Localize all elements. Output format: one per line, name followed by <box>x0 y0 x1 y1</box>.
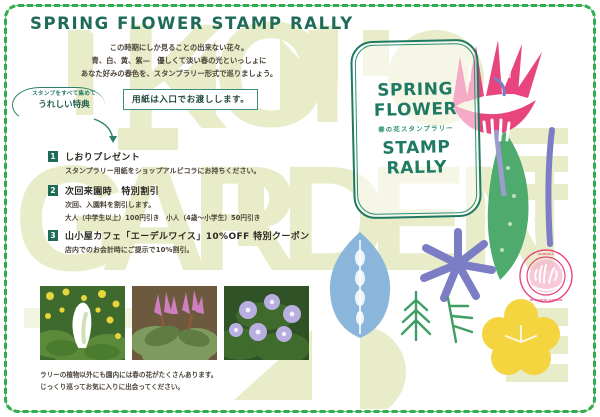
benefit-number-badge: 2 <box>48 185 58 196</box>
benefit-item: 3山小屋カフェ「エーデルワイス」10%OFF 特別クーポン店内でのお会計時にご提… <box>48 229 348 256</box>
speech-bubble-content: スタンプをすべて集めて うれしい特典 <box>16 89 112 110</box>
photo-purple-flower <box>224 286 309 360</box>
benefit-number-badge: 3 <box>48 230 58 241</box>
green-fir-sprig-left-illustration <box>396 288 436 344</box>
lead-paragraph: この時期にしか見ることの出来ない花々。 青、白、黄、紫— 優しくて淡い春の光とい… <box>30 42 328 80</box>
content-column: SPRING FLOWER STAMP RALLY この時期にしか見ることの出来… <box>30 14 350 137</box>
benefit-description: 次回、入園料を割引します。 <box>65 200 348 211</box>
notice-row: スタンプをすべて集めて うれしい特典 用紙は入口でお渡しします。 <box>30 91 350 137</box>
benefit-item: 1しおりプレゼントスタンプラリー用紙をショップアルピコラにお持ちください。 <box>48 150 348 177</box>
benefit-title: 山小屋カフェ「エーデルワイス」10%OFF 特別クーポン <box>65 229 310 242</box>
green-fir-sprig-right-illustration <box>436 294 476 346</box>
photo-white-flower <box>40 286 125 360</box>
lead-line-3: あなた好みの春色を、スタンプラリー形式で巡りましょう。 <box>30 68 328 81</box>
benefits-list: 1しおりプレゼントスタンプラリー用紙をショップアルピコラにお持ちください。2次回… <box>48 150 348 263</box>
stamp-rally-badge: SPRING FLOWER 春の花スタンプラリー STAMP RALLY <box>352 40 480 218</box>
benefit-description: 店内でのお会計時にご提示で10%割引。 <box>65 245 348 256</box>
benefit-number-badge: 1 <box>48 151 58 162</box>
photo-caption: ラリーの植物以外にも園内には春の花がたくさんあります。 じっくり巡ってお気に入り… <box>40 370 217 393</box>
benefit-title: 次回来園時 特別割引 <box>65 184 159 197</box>
notice-box: 用紙は入口でお渡しします。 <box>123 89 258 110</box>
badge-line-flower: FLOWER <box>374 99 458 121</box>
benefit-detail: 大人（中学生以上）100円引き 小人（4歳〜小学生）50円引き <box>65 212 348 222</box>
bubble-arrow-icon <box>92 117 122 147</box>
bubble-line-2: うれしい特典 <box>16 98 112 110</box>
benefit-heading: 3山小屋カフェ「エーデルワイス」10%OFF 特別クーポン <box>48 229 348 242</box>
badge-line-stamp: STAMP <box>382 137 450 158</box>
svg-text:ALPICOLA: ALPICOLA <box>538 252 555 256</box>
svg-text:BOTANICAL GARDEN: BOTANICAL GARDEN <box>530 298 563 302</box>
yellow-flower-illustration <box>480 296 562 378</box>
garden-logo-stamp: ALPICOLA BOTANICAL GARDEN <box>518 248 574 304</box>
lead-line-1: この時期にしか見ることの出来ない花々。 <box>30 42 328 55</box>
lead-line-2: 青、白、黄、紫— 優しくて淡い春の光といっしょに <box>30 55 328 68</box>
caption-line-2: じっくり巡ってお気に入りに出会ってください。 <box>40 382 217 394</box>
badge-line-rally: RALLY <box>386 157 447 178</box>
photo-pink-flower <box>132 286 217 360</box>
illustration-panel: ALPICOLA BOTANICAL GARDEN SPRING FLOWER … <box>330 8 592 409</box>
badge-line-spring: SPRING <box>377 79 453 101</box>
poster-canvas: IKOIGARDEN <box>0 0 600 417</box>
badge-japanese-subtitle: 春の花スタンプラリー <box>378 123 454 134</box>
benefit-heading: 2次回来園時 特別割引 <box>48 184 348 197</box>
page-title: SPRING FLOWER STAMP RALLY <box>30 14 350 33</box>
benefit-heading: 1しおりプレゼント <box>48 150 348 163</box>
notice-text: 用紙は入口でお渡しします。 <box>132 93 249 105</box>
benefit-title: しおりプレゼント <box>65 150 140 163</box>
photo-strip <box>40 286 309 360</box>
white-sprout-illustration <box>480 116 520 146</box>
caption-line-1: ラリーの植物以外にも園内には春の花がたくさんあります。 <box>40 370 217 382</box>
benefit-description: スタンプラリー用紙をショップアルピコラにお持ちください。 <box>65 166 348 177</box>
bubble-line-1: スタンプをすべて集めて <box>16 89 112 97</box>
benefit-item: 2次回来園時 特別割引次回、入園料を割引します。大人（中学生以上）100円引き … <box>48 184 348 223</box>
